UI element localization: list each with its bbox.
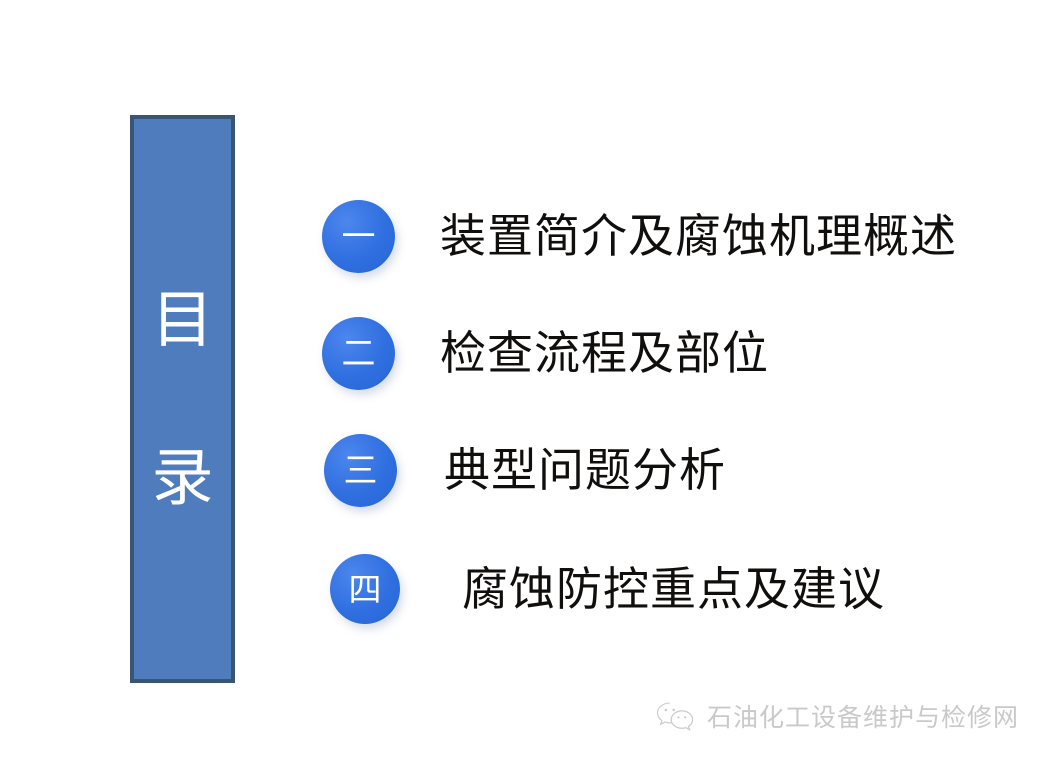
agenda-item-4[interactable]: 四 腐蚀防控重点及建议	[322, 529, 1022, 649]
item-number-badge-1: 一	[322, 200, 395, 273]
item-number-glyph-1: 一	[342, 220, 376, 254]
item-number-glyph-2: 二	[342, 337, 376, 371]
toc-title-char-1: 目	[151, 289, 213, 351]
agenda-item-1[interactable]: 一 装置简介及腐蚀机理概述	[322, 178, 1022, 295]
item-number-glyph-4: 四	[349, 573, 382, 606]
presentation-slide: 目 录 一 装置简介及腐蚀机理概述 二 检查流程及部位 三 典型问题分析 四	[0, 0, 1052, 767]
agenda-item-label-1: 装置简介及腐蚀机理概述	[440, 212, 957, 260]
agenda-list: 一 装置简介及腐蚀机理概述 二 检查流程及部位 三 典型问题分析 四 腐蚀防控重…	[322, 178, 1022, 649]
item-number-badge-2: 二	[322, 317, 395, 390]
table-of-contents-bar: 目 录	[130, 115, 235, 683]
agenda-item-label-2: 检查流程及部位	[440, 329, 769, 377]
watermark: 石油化工设备维护与检修网	[655, 700, 1019, 734]
agenda-item-label-4: 腐蚀防控重点及建议	[462, 565, 885, 613]
item-number-badge-4: 四	[330, 554, 400, 624]
agenda-item-3[interactable]: 三 典型问题分析	[322, 412, 1022, 529]
wechat-icon	[655, 700, 697, 734]
toc-title-char-2: 录	[151, 447, 213, 509]
agenda-item-label-3: 典型问题分析	[444, 446, 726, 494]
watermark-text: 石油化工设备维护与检修网	[707, 705, 1019, 730]
agenda-item-2[interactable]: 二 检查流程及部位	[322, 295, 1022, 412]
item-number-glyph-3: 三	[344, 454, 378, 488]
item-number-badge-3: 三	[324, 434, 397, 507]
